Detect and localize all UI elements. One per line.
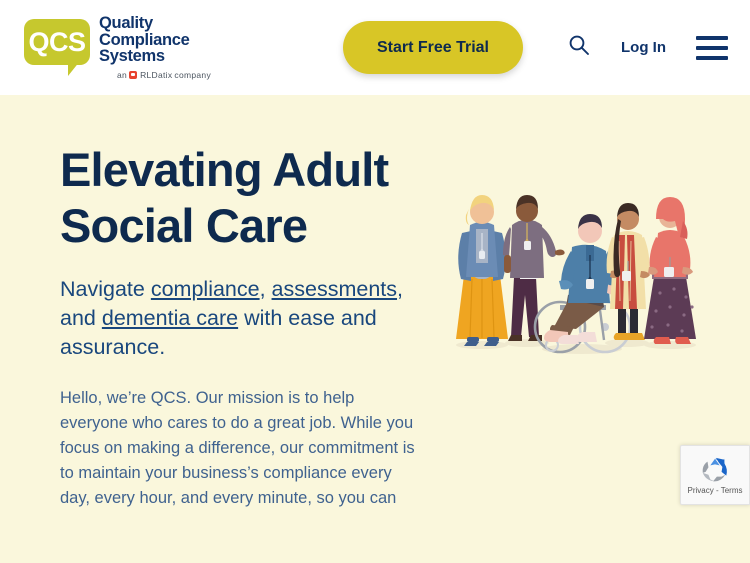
rldatix-logo-icon xyxy=(129,71,137,79)
assessments-link[interactable]: assessments xyxy=(272,277,397,301)
hamburger-bar-1 xyxy=(696,36,728,40)
hamburger-menu-icon[interactable] xyxy=(696,36,728,60)
qcs-logo-mark: QCS xyxy=(24,19,90,77)
login-link[interactable]: Log In xyxy=(621,39,666,56)
header-nav-group: Log In xyxy=(567,33,728,62)
hamburger-bar-2 xyxy=(696,46,728,50)
hero-body-paragraph: Hello, we’re QCS. Our mission is to help… xyxy=(60,386,420,511)
wordmark-line-2: Compliance xyxy=(99,32,211,49)
qcs-wordmark: Quality Compliance Systems xyxy=(99,15,211,65)
search-icon[interactable] xyxy=(567,33,591,62)
wordmark-line-1: Quality xyxy=(99,15,211,32)
hero-text-column: Elevating Adult Social Care Navigate com… xyxy=(24,95,436,563)
compliance-link[interactable]: compliance xyxy=(151,277,260,301)
hero-subheading: Navigate compliance, assessments, and de… xyxy=(60,275,405,362)
recaptcha-icon xyxy=(700,455,730,485)
qcs-wordmark-group: Quality Compliance Systems an RLDatix co… xyxy=(99,15,211,80)
header-actions: Start Free Trial Log In xyxy=(343,21,728,74)
site-header: QCS Quality Compliance Systems an RLDati… xyxy=(0,0,750,95)
wordmark-line-3: Systems xyxy=(99,48,211,65)
recaptcha-privacy-terms[interactable]: Privacy - Terms xyxy=(688,486,743,495)
qcs-monogram: QCS xyxy=(28,19,85,65)
subheading-lead: Navigate xyxy=(60,277,151,301)
subheading-sep-1: , xyxy=(260,277,272,301)
hero-section: Elevating Adult Social Care Navigate com… xyxy=(0,95,750,563)
dementia-care-link[interactable]: dementia care xyxy=(102,306,238,330)
tagline-suffix: company xyxy=(174,70,211,80)
recaptcha-badge[interactable]: Privacy - Terms xyxy=(680,445,750,505)
start-free-trial-button[interactable]: Start Free Trial xyxy=(343,21,523,74)
page-title: Elevating Adult Social Care xyxy=(60,142,436,254)
qcs-logo[interactable]: QCS Quality Compliance Systems an RLDati… xyxy=(24,15,211,80)
tagline-prefix: an xyxy=(117,70,127,80)
care-group-illustration xyxy=(442,167,702,367)
rldatix-tagline: an RLDatix company xyxy=(99,70,211,80)
hamburger-bar-3 xyxy=(696,56,728,60)
tagline-brand: RLDatix xyxy=(140,70,172,80)
